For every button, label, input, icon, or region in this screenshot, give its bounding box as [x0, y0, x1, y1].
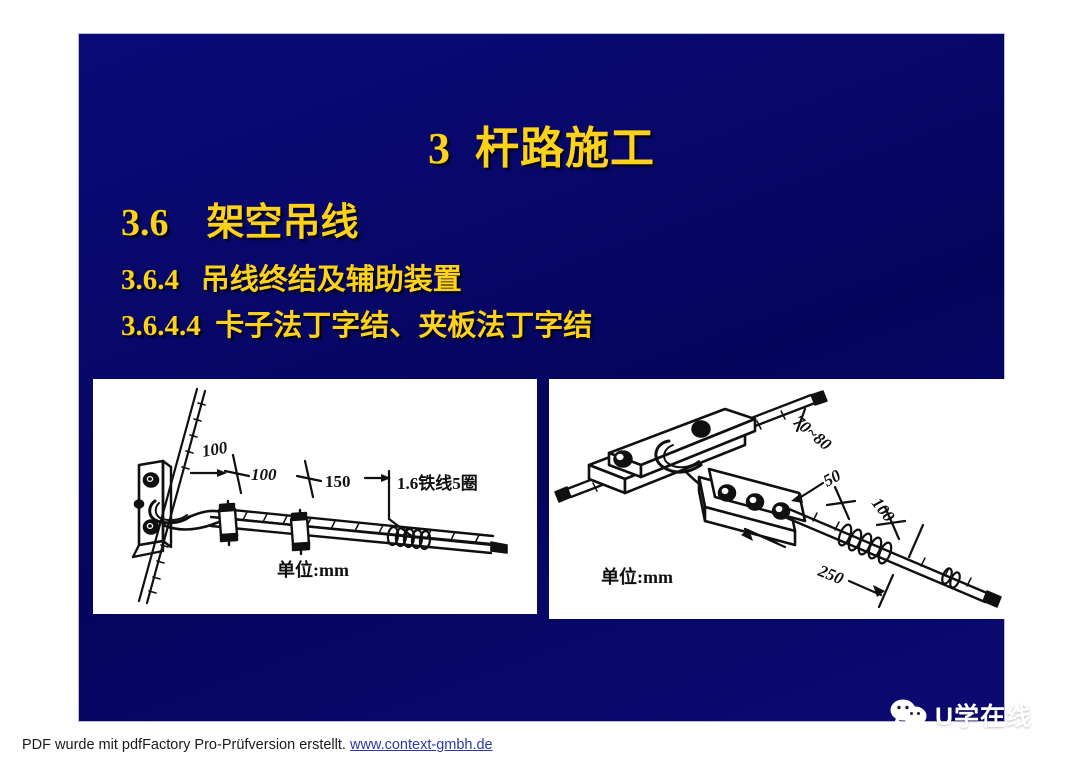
dimension-label-100-b: 100: [251, 465, 277, 484]
dimension-label-wire-spec: 1.6铁线5圈: [397, 473, 478, 493]
heading-section-3-6-4: 3.6.4 吊线终结及辅助装置: [121, 256, 462, 298]
unit-note-left: 单位:mm: [277, 559, 349, 580]
clamp-method-drawing: 100 100 150 1.6铁线5圈 单位:mm: [93, 379, 537, 614]
dimension-label-100: 100: [868, 494, 899, 526]
dimension-label-70-80: 70~80: [789, 412, 835, 455]
unit-note-right: 单位:mm: [601, 566, 673, 587]
figure-clamp-method-diagram: 100 100 150 1.6铁线5圈 单位:mm: [93, 379, 537, 614]
heading-section-3-6: 3.6 架空吊线: [121, 191, 359, 246]
footer-text: PDF wurde mit pdfFactory Pro-Prüfversion…: [22, 737, 350, 753]
heading-section-3-6-4-4: 3.6.4.4 卡子法丁字结、夹板法丁字结: [121, 302, 592, 344]
dimension-label-100-a: 100: [200, 438, 229, 461]
dimension-label-150: 150: [325, 472, 351, 491]
figure-plate-method-diagram: 70~80 50 100 250 单位:mm: [549, 379, 1006, 619]
dimension-label-250: 250: [815, 561, 847, 589]
page-title: 3 杆路施工: [79, 112, 1004, 176]
plate-method-drawing: 70~80 50 100 250 单位:mm: [549, 379, 1006, 619]
dimension-label-50: 50: [820, 466, 844, 491]
slide-panel: 3 杆路施工 3.6 架空吊线 3.6.4 吊线终结及辅助装置 3.6.4.4 …: [78, 33, 1005, 722]
footer-link[interactable]: www.context-gmbh.de: [350, 737, 493, 753]
pdf-footer-notice: PDF wurde mit pdfFactory Pro-Prüfversion…: [22, 737, 493, 753]
